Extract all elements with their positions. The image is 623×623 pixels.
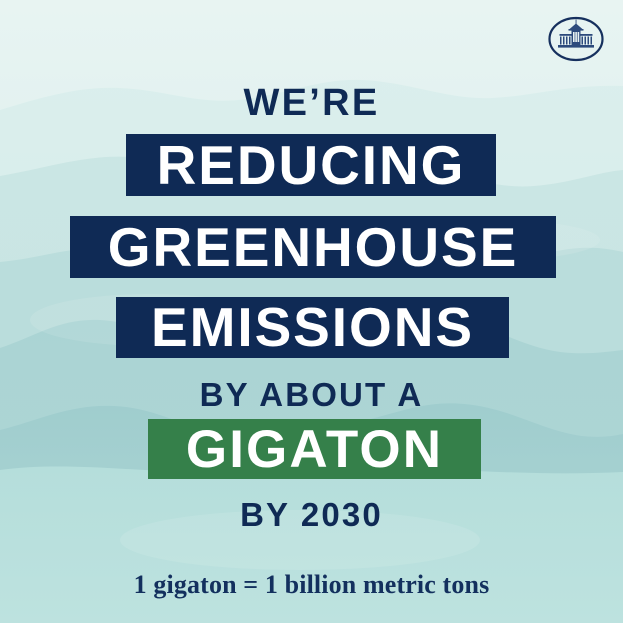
- headline-line-by-about-a: BY ABOUT A: [0, 378, 623, 411]
- poster-canvas: WE’RE REDUCING GREENHOUSE EMISSIONS BY A…: [0, 0, 623, 623]
- headline-line-reducing: REDUCING: [126, 134, 496, 196]
- footnote-text: 1 gigaton = 1 billion metric tons: [0, 570, 623, 600]
- headline-line-greenhouse: GREENHOUSE: [70, 216, 556, 278]
- headline-line-by-2030: BY 2030: [0, 498, 623, 531]
- headline-line-emissions: EMISSIONS: [116, 297, 509, 358]
- headline-stack: WE’RE REDUCING GREENHOUSE EMISSIONS BY A…: [0, 0, 623, 623]
- headline-line-were: WE’RE: [0, 84, 623, 122]
- headline-line-gigaton: GIGATON: [148, 419, 481, 479]
